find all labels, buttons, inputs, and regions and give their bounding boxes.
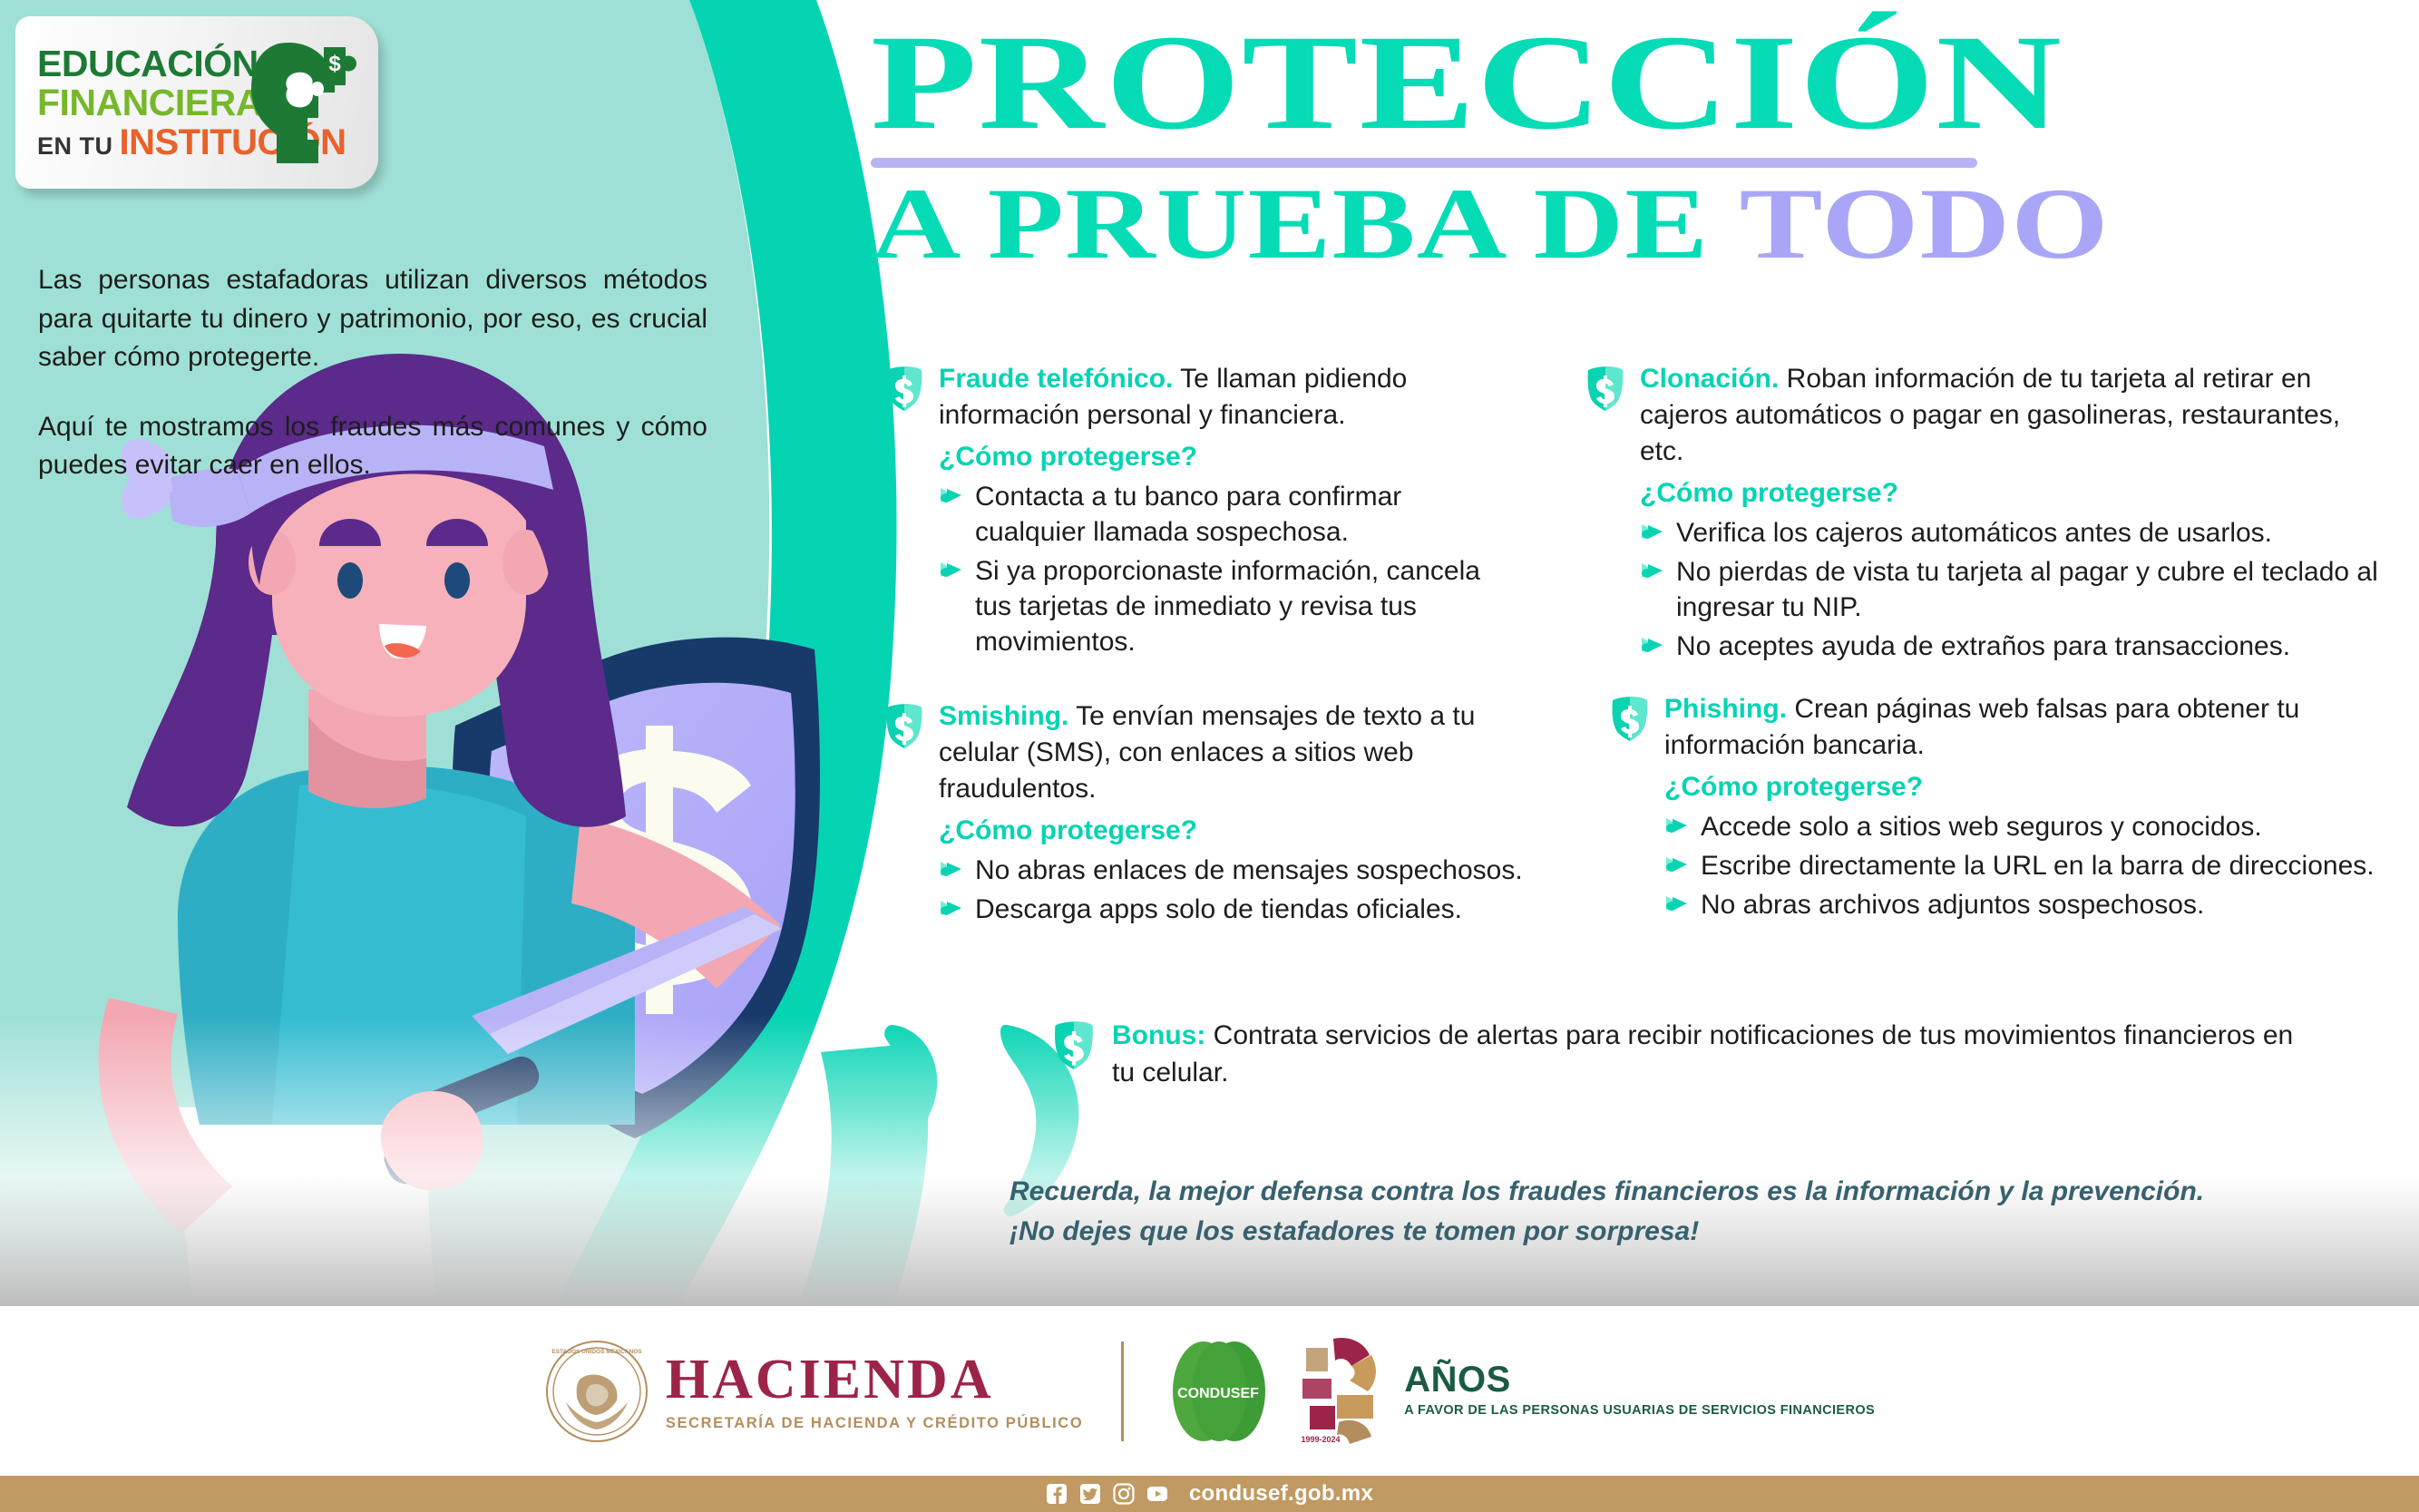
website-url[interactable]: condusef.gob.mx — [1189, 1481, 1373, 1507]
instagram-icon[interactable] — [1113, 1483, 1135, 1505]
shield-dollar-icon — [884, 365, 924, 412]
block-title: Fraude telefónico. — [939, 364, 1173, 394]
tip-text: No abras archivos adjuntos sospechosos. — [1701, 887, 2204, 922]
intro-paragraph-2: Aquí te mostramos los fraudes más comune… — [38, 408, 707, 485]
howto-label: ¿Cómo protegerse? — [1664, 769, 2390, 805]
howto-label: ¿Cómo protegerse? — [939, 813, 1537, 849]
tip-text: No pierdas de vista tu tarjeta al pagar … — [1676, 554, 2384, 625]
mexico-eagle-seal-icon: ESTADOS UNIDOS MEXICANOS — [544, 1339, 649, 1444]
condusef-leaf-icon: CONDUSEF — [1162, 1338, 1275, 1445]
chevron-bullet-icon — [939, 898, 966, 920]
chevron-bullet-icon — [1664, 893, 1692, 915]
subtitle-highlight: TODO — [1740, 168, 2110, 280]
hacienda-text: HACIENDA SECRETARÍA DE HACIENDA Y CRÉDIT… — [666, 1351, 1083, 1431]
tips-list: No abras enlaces de mensajes sospechosos… — [939, 853, 1537, 927]
hacienda-name: HACIENDA — [666, 1351, 1083, 1408]
chevron-bullet-icon — [939, 560, 966, 581]
tips-list: Accede solo a sitios web seguros y conoc… — [1664, 809, 2390, 922]
hacienda-subtitle: SECRETARÍA DE HACIENDA Y CRÉDITO PÚBLICO — [666, 1416, 1083, 1431]
page-subtitle: A PRUEBA DE TODO — [871, 173, 2277, 275]
chevron-bullet-icon — [1640, 561, 1667, 582]
svg-text:ESTADOS UNIDOS MEXICANOS: ESTADOS UNIDOS MEXICANOS — [551, 1349, 642, 1355]
tip-text: No abras enlaces de mensajes sospechosos… — [975, 853, 1523, 888]
list-item: No pierdas de vista tu tarjeta al pagar … — [1640, 554, 2384, 625]
closing-line-2: ¡No dejes que los estafadores te tomen p… — [1010, 1212, 2361, 1252]
svg-text:$: $ — [328, 52, 341, 76]
chevron-bullet-icon — [939, 485, 966, 507]
anniversary-text: AÑOS A FAVOR DE LAS PERSONAS USUARIAS DE… — [1404, 1361, 1875, 1420]
head-puzzle-money-icon: $ — [240, 34, 358, 171]
tips-list: Verifica los cajeros automáticos antes d… — [1640, 515, 2384, 664]
list-item: Accede solo a sitios web seguros y conoc… — [1664, 809, 2390, 844]
bonus-description: Contrata servicios de alertas para recib… — [1112, 1020, 2293, 1088]
list-item: No abras archivos adjuntos sospechosos. — [1664, 887, 2390, 922]
footer-logos: ESTADOS UNIDOS MEXICANOS HACIENDA SECRET… — [0, 1306, 2419, 1476]
title-area: PROTECCIÓN A PRUEBA DE TODO — [871, 20, 2014, 275]
anios-label: AÑOS — [1404, 1361, 1875, 1398]
tip-text: No aceptes ayuda de extraños para transa… — [1676, 629, 2290, 664]
block-smishing: Smishing. Te envían mensajes de texto a … — [884, 698, 1537, 931]
block-text: Smishing. Te envían mensajes de texto a … — [939, 698, 1537, 931]
chevron-bullet-icon — [939, 859, 966, 881]
condusef-logo: CONDUSEF 25 1999-2024 AÑOS A FAVOR DE LA… — [1162, 1335, 1875, 1448]
educacion-financiera-logo: EDUCACIÓN FINANCIERA EN TU INSTITUCIÓN $ — [15, 16, 378, 189]
anios-subtitle: A FAVOR DE LAS PERSONAS USUARIAS DE SERV… — [1404, 1402, 1875, 1420]
list-item: Verifica los cajeros automáticos antes d… — [1640, 515, 2384, 551]
bonus-block: Bonus: Contrata servicios de alertas par… — [1052, 1018, 2322, 1091]
tip-text: Si ya proporcionaste información, cancel… — [975, 553, 1519, 659]
title-divider — [871, 158, 1977, 168]
chevron-bullet-icon — [1664, 815, 1692, 837]
block-header: Phishing. Crean páginas web falsas para … — [1610, 691, 2390, 926]
youtube-icon[interactable] — [1146, 1483, 1168, 1505]
block-clonacion: Clonación. Roban información de tu tarje… — [1585, 361, 2384, 668]
condusef-wordmark: CONDUSEF — [1177, 1386, 1259, 1401]
bottom-bar: condusef.gob.mx — [0, 1476, 2419, 1512]
anniversary-years: 1999-2024 — [1302, 1435, 1341, 1444]
chevron-bullet-icon — [1640, 522, 1667, 543]
howto-label: ¿Cómo protegerse? — [939, 439, 1519, 475]
tip-text: Escribe directamente la URL en la barra … — [1701, 848, 2375, 883]
block-text: Phishing. Crean páginas web falsas para … — [1664, 691, 2390, 926]
block-text: Clonación. Roban información de tu tarje… — [1640, 361, 2384, 668]
shield-dollar-icon — [1052, 1019, 1096, 1070]
logo-en-tu: EN TU — [37, 134, 113, 159]
block-header: Fraude telefónico. Te llaman pidiendo in… — [884, 361, 1519, 663]
block-text: Fraude telefónico. Te llaman pidiendo in… — [939, 361, 1519, 663]
block-header: Smishing. Te envían mensajes de texto a … — [884, 698, 1537, 931]
howto-label: ¿Cómo protegerse? — [1640, 475, 2384, 512]
closing-line-1: Recuerda, la mejor defensa contra los fr… — [1010, 1172, 2361, 1212]
list-item: No aceptes ayuda de extraños para transa… — [1640, 629, 2384, 664]
intro-text: Las personas estafadoras utilizan divers… — [38, 261, 707, 485]
twitter-icon[interactable] — [1079, 1483, 1101, 1505]
subtitle-left: A PRUEBA DE — [871, 168, 1740, 280]
chevron-bullet-icon — [1640, 635, 1667, 657]
block-fraude-telefonico: Fraude telefónico. Te llaman pidiendo in… — [884, 361, 1519, 663]
tip-text: Accede solo a sitios web seguros y conoc… — [1701, 809, 2262, 844]
facebook-icon[interactable] — [1046, 1483, 1068, 1505]
tip-text: Contacta a tu banco para confirmar cualq… — [975, 479, 1519, 550]
shield-dollar-icon — [884, 702, 924, 749]
intro-paragraph-1: Las personas estafadoras utilizan divers… — [38, 261, 707, 377]
page-title: PROTECCIÓN — [871, 20, 2334, 145]
chevron-bullet-icon — [1664, 854, 1692, 876]
list-item: Descarga apps solo de tiendas oficiales. — [939, 892, 1537, 927]
list-item: Si ya proporcionaste información, cancel… — [939, 553, 1519, 659]
block-phishing: Phishing. Crean páginas web falsas para … — [1610, 691, 2390, 926]
closing-message: Recuerda, la mejor defensa contra los fr… — [1010, 1172, 2361, 1251]
infographic-canvas: EDUCACIÓN FINANCIERA EN TU INSTITUCIÓN $… — [0, 0, 2419, 1512]
block-title: Smishing. — [939, 701, 1068, 731]
block-title: Clonación. — [1640, 364, 1779, 394]
hacienda-logo: ESTADOS UNIDOS MEXICANOS HACIENDA SECRET… — [544, 1339, 1083, 1444]
shield-dollar-icon — [1585, 365, 1625, 412]
footer-divider — [1121, 1341, 1124, 1441]
list-item: No abras enlaces de mensajes sospechosos… — [939, 853, 1537, 888]
shield-dollar-icon — [1610, 695, 1650, 742]
bonus-text: Bonus: Contrata servicios de alertas par… — [1112, 1018, 2322, 1091]
bonus-label: Bonus: — [1112, 1020, 1205, 1050]
block-header: Clonación. Roban información de tu tarje… — [1585, 361, 2384, 668]
block-title: Phishing. — [1664, 694, 1787, 724]
tip-text: Descarga apps solo de tiendas oficiales. — [975, 892, 1462, 927]
tip-text: Verifica los cajeros automáticos antes d… — [1676, 515, 2272, 551]
tips-list: Contacta a tu banco para confirmar cualq… — [939, 479, 1519, 659]
anniversary-25-icon: 25 1999-2024 — [1284, 1335, 1391, 1448]
list-item: Escribe directamente la URL en la barra … — [1664, 848, 2390, 883]
list-item: Contacta a tu banco para confirmar cualq… — [939, 479, 1519, 550]
